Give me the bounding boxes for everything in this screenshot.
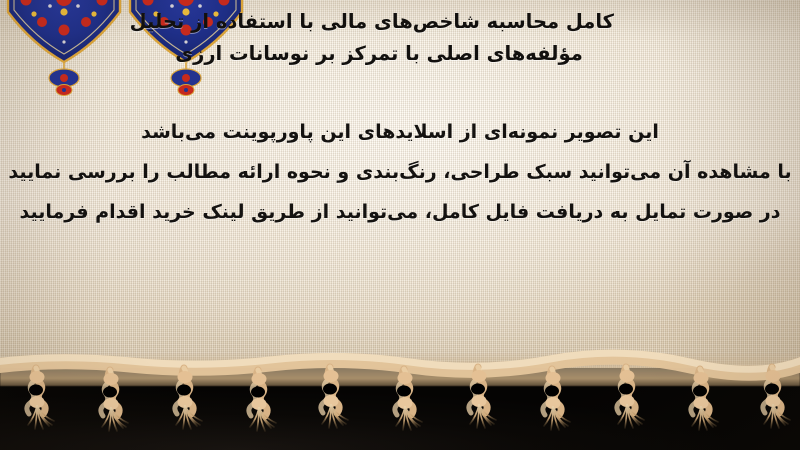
fringe-tassels bbox=[27, 367, 790, 431]
body-line-1: این تصویر نمونه‌ای از اسلایدهای این پاور… bbox=[0, 112, 800, 152]
body-line-2: با مشاهده آن می‌توانید سبک طراحی، رنگ‌بن… bbox=[0, 152, 800, 192]
title-line-1: کامل محاسبه شاخص‌های مالی با استفاده از … bbox=[144, 6, 614, 38]
slide-title: کامل محاسبه شاخص‌های مالی با استفاده از … bbox=[144, 6, 614, 70]
body-line-3: در صورت تمایل به دریافت فایل کامل، می‌تو… bbox=[0, 192, 800, 232]
ornament-medallion-left bbox=[8, 0, 120, 96]
slide-canvas: کامل محاسبه شاخص‌های مالی با استفاده از … bbox=[0, 0, 800, 450]
title-line-2: مؤلفه‌های اصلی با تمرکز بر نوسانات ارزی bbox=[144, 38, 614, 70]
slide-body: این تصویر نمونه‌ای از اسلایدهای این پاور… bbox=[0, 112, 800, 232]
carpet-fringe bbox=[0, 340, 800, 450]
